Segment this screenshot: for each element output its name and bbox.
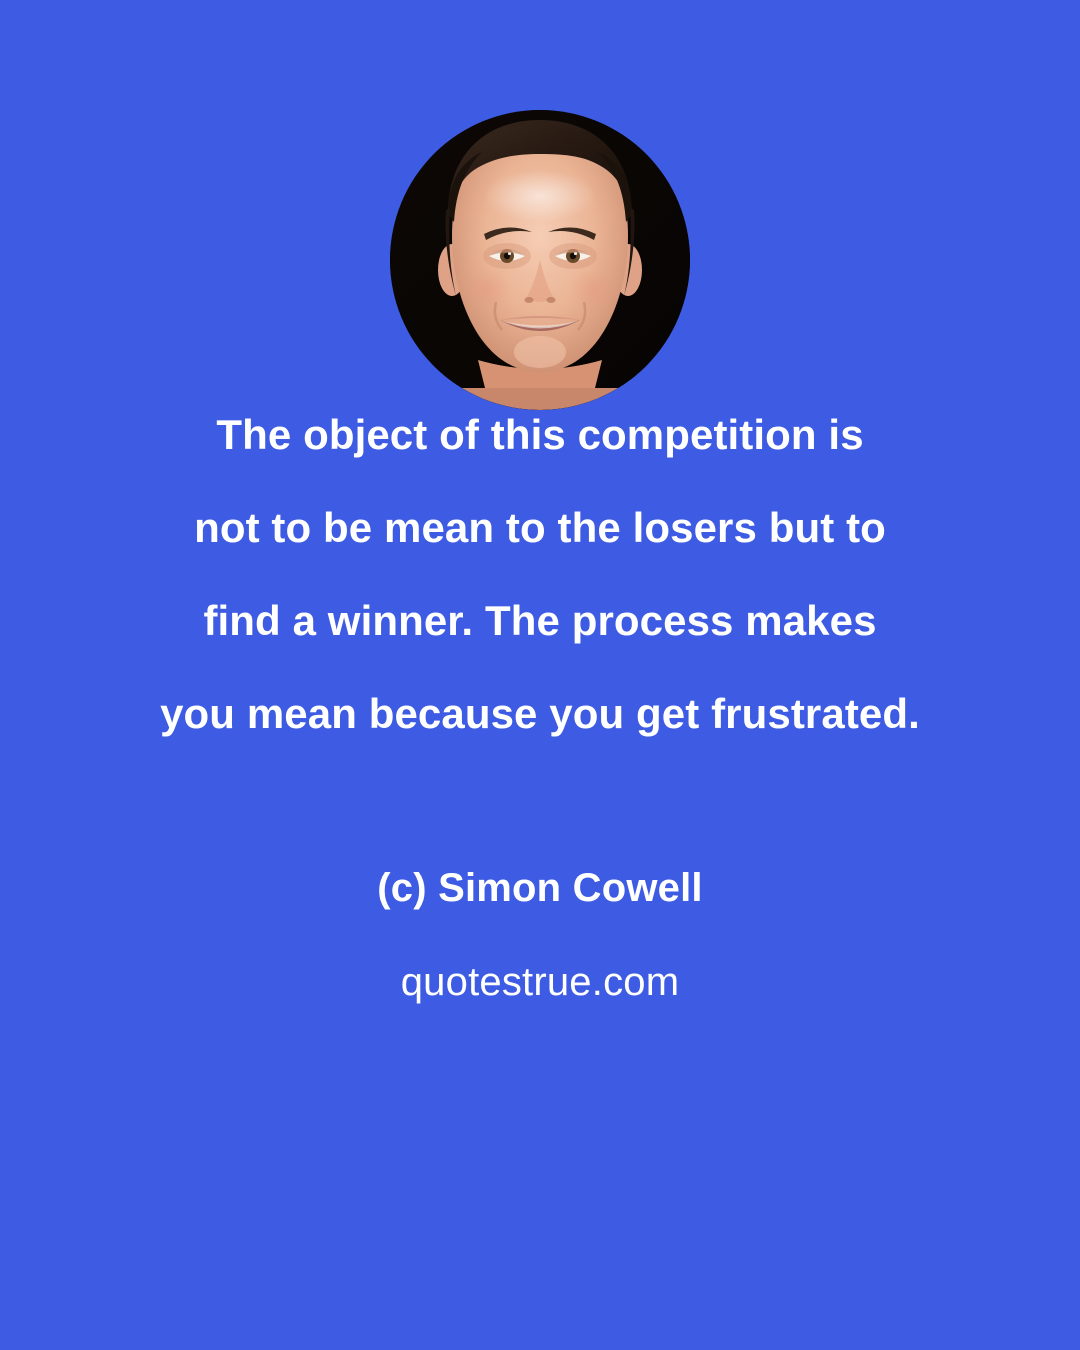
- quote-line: find a winner. The process makes: [70, 574, 1010, 667]
- site-watermark: quotestrue.com: [0, 958, 1080, 1006]
- portrait-photo: [390, 110, 690, 410]
- quote-line: you mean because you get frustrated.: [70, 667, 1010, 760]
- quote-line: not to be mean to the losers but to: [70, 481, 1010, 574]
- quote-card: The object of this competition is not to…: [0, 0, 1080, 1350]
- quote-body: The object of this competition is not to…: [70, 388, 1010, 760]
- quote-line: The object of this competition is: [70, 388, 1010, 481]
- portrait-avatar: [390, 110, 690, 410]
- quote-author: (c) Simon Cowell: [0, 864, 1080, 912]
